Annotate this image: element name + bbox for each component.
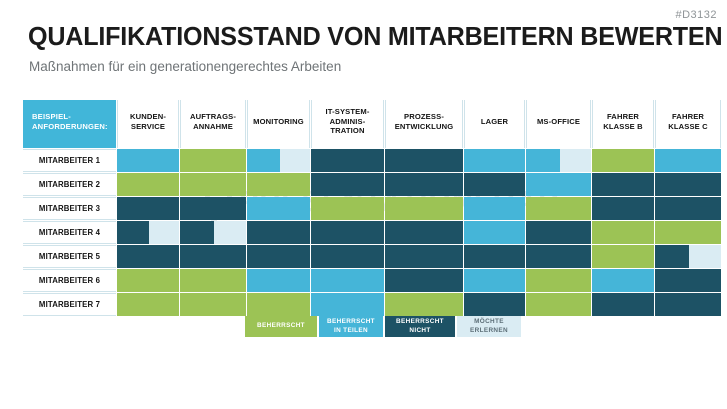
matrix-cell[interactable] [247, 269, 310, 292]
legend-item[interactable]: BEHERRSCHT IN TEILEN [319, 316, 383, 337]
table-row: MITARBEITER 7 [23, 293, 721, 316]
column-header: MONITORING [247, 100, 310, 148]
matrix-cell[interactable] [311, 293, 384, 316]
matrix-cell[interactable] [464, 149, 525, 172]
matrix-cell[interactable] [385, 173, 463, 196]
column-header: IT-SYSTEM-ADMINIS-TRATION [311, 100, 384, 148]
matrix-cell-partial-fill [117, 221, 149, 244]
matrix-cell[interactable] [655, 269, 721, 292]
matrix-cell[interactable] [247, 173, 310, 196]
matrix-cell[interactable] [592, 221, 654, 244]
matrix-cell[interactable] [464, 293, 525, 316]
table-row: MITARBEITER 6 [23, 269, 721, 292]
matrix-cell[interactable] [385, 245, 463, 268]
matrix-cell[interactable] [592, 245, 654, 268]
matrix-cell[interactable] [592, 173, 654, 196]
matrix-cell[interactable] [117, 269, 179, 292]
matrix-cell[interactable] [526, 173, 591, 196]
matrix-cell[interactable] [655, 197, 721, 220]
matrix-corner-label: BEISPIEL-ANFORDERUNGEN: [23, 100, 116, 148]
matrix-cell[interactable] [117, 197, 179, 220]
matrix-cell[interactable] [117, 221, 179, 244]
matrix-cell[interactable] [180, 221, 246, 244]
matrix-cell[interactable] [180, 173, 246, 196]
matrix-cell[interactable] [592, 149, 654, 172]
matrix-cell[interactable] [592, 197, 654, 220]
matrix-cell[interactable] [592, 269, 654, 292]
table-row: MITARBEITER 4 [23, 221, 721, 244]
matrix-cell[interactable] [117, 149, 179, 172]
legend: BEHERRSCHTBEHERRSCHT IN TEILENBEHERRSCHT… [245, 316, 521, 337]
table-row: MITARBEITER 5 [23, 245, 721, 268]
matrix-header: BEISPIEL-ANFORDERUNGEN: KUNDEN-SERVICEAU… [23, 100, 721, 148]
matrix-cell[interactable] [180, 245, 246, 268]
row-label: MITARBEITER 7 [23, 293, 116, 316]
matrix-cell[interactable] [247, 221, 310, 244]
matrix-cell[interactable] [385, 293, 463, 316]
table-row: MITARBEITER 3 [23, 197, 721, 220]
matrix-cell[interactable] [311, 197, 384, 220]
column-header: AUFTRAGS-ANNAHME [180, 100, 246, 148]
matrix-cell[interactable] [385, 221, 463, 244]
row-label: MITARBEITER 4 [23, 221, 116, 244]
matrix-body: MITARBEITER 1MITARBEITER 2MITARBEITER 3M… [23, 149, 721, 316]
matrix-cell[interactable] [247, 293, 310, 316]
document-id: #D3132 [675, 9, 717, 21]
page-title: QUALIFIKATIONSSTAND VON MITARBEITERN BEW… [28, 23, 722, 52]
matrix-cell[interactable] [655, 221, 721, 244]
matrix-cell[interactable] [385, 269, 463, 292]
matrix-cell[interactable] [526, 221, 591, 244]
matrix-cell[interactable] [526, 149, 591, 172]
matrix-cell[interactable] [180, 149, 246, 172]
matrix-cell[interactable] [526, 245, 591, 268]
matrix-cell[interactable] [311, 245, 384, 268]
legend-item[interactable]: BEHERRSCHT NICHT [385, 316, 455, 337]
matrix-cell[interactable] [592, 293, 654, 316]
column-header: FAHRERKLASSE C [655, 100, 721, 148]
legend-item[interactable]: BEHERRSCHT [245, 316, 317, 337]
row-label: MITARBEITER 2 [23, 173, 116, 196]
qualification-matrix-table: BEISPIEL-ANFORDERUNGEN: KUNDEN-SERVICEAU… [22, 99, 722, 317]
row-label: MITARBEITER 1 [23, 149, 116, 172]
matrix-cell-partial-fill [655, 245, 689, 268]
matrix-header-row: BEISPIEL-ANFORDERUNGEN: KUNDEN-SERVICEAU… [23, 100, 721, 148]
matrix-cell[interactable] [655, 149, 721, 172]
matrix-cell[interactable] [247, 149, 310, 172]
matrix-cell-partial-fill [526, 149, 560, 172]
matrix-cell[interactable] [526, 197, 591, 220]
matrix-cell[interactable] [464, 173, 525, 196]
column-header: PROZESS-ENTWICKLUNG [385, 100, 463, 148]
table-row: MITARBEITER 2 [23, 173, 721, 196]
matrix-cell[interactable] [117, 245, 179, 268]
column-header: MS-OFFICE [526, 100, 591, 148]
row-label: MITARBEITER 3 [23, 197, 116, 220]
matrix-cell[interactable] [655, 245, 721, 268]
matrix-cell[interactable] [526, 269, 591, 292]
table-row: MITARBEITER 1 [23, 149, 721, 172]
matrix-cell[interactable] [385, 149, 463, 172]
matrix-cell[interactable] [464, 221, 525, 244]
matrix-cell[interactable] [311, 269, 384, 292]
matrix-cell[interactable] [311, 173, 384, 196]
matrix-cell[interactable] [180, 197, 246, 220]
matrix-cell[interactable] [247, 245, 310, 268]
matrix-cell[interactable] [385, 197, 463, 220]
matrix-cell-partial-fill [180, 221, 214, 244]
matrix-cell[interactable] [464, 197, 525, 220]
matrix-cell-partial-fill [247, 149, 280, 172]
row-label: MITARBEITER 6 [23, 269, 116, 292]
matrix-cell[interactable] [311, 149, 384, 172]
matrix-cell[interactable] [247, 197, 310, 220]
matrix-cell[interactable] [117, 293, 179, 316]
legend-item[interactable]: MÖCHTE ERLERNEN [457, 316, 521, 337]
matrix-cell[interactable] [526, 293, 591, 316]
column-header: LAGER [464, 100, 525, 148]
row-label: MITARBEITER 5 [23, 245, 116, 268]
matrix-cell[interactable] [655, 173, 721, 196]
slide-canvas: #D3132 QUALIFIKATIONSSTAND VON MITARBEIT… [0, 0, 727, 409]
column-header: FAHRERKLASSE B [592, 100, 654, 148]
matrix-cell[interactable] [311, 221, 384, 244]
column-header: KUNDEN-SERVICE [117, 100, 179, 148]
matrix-cell[interactable] [464, 245, 525, 268]
page-subtitle: Maßnahmen für ein generationengerechtes … [29, 59, 341, 74]
matrix-cell[interactable] [464, 269, 525, 292]
matrix-cell[interactable] [180, 293, 246, 316]
matrix-cell[interactable] [180, 269, 246, 292]
matrix-cell[interactable] [117, 173, 179, 196]
matrix-cell[interactable] [655, 293, 721, 316]
